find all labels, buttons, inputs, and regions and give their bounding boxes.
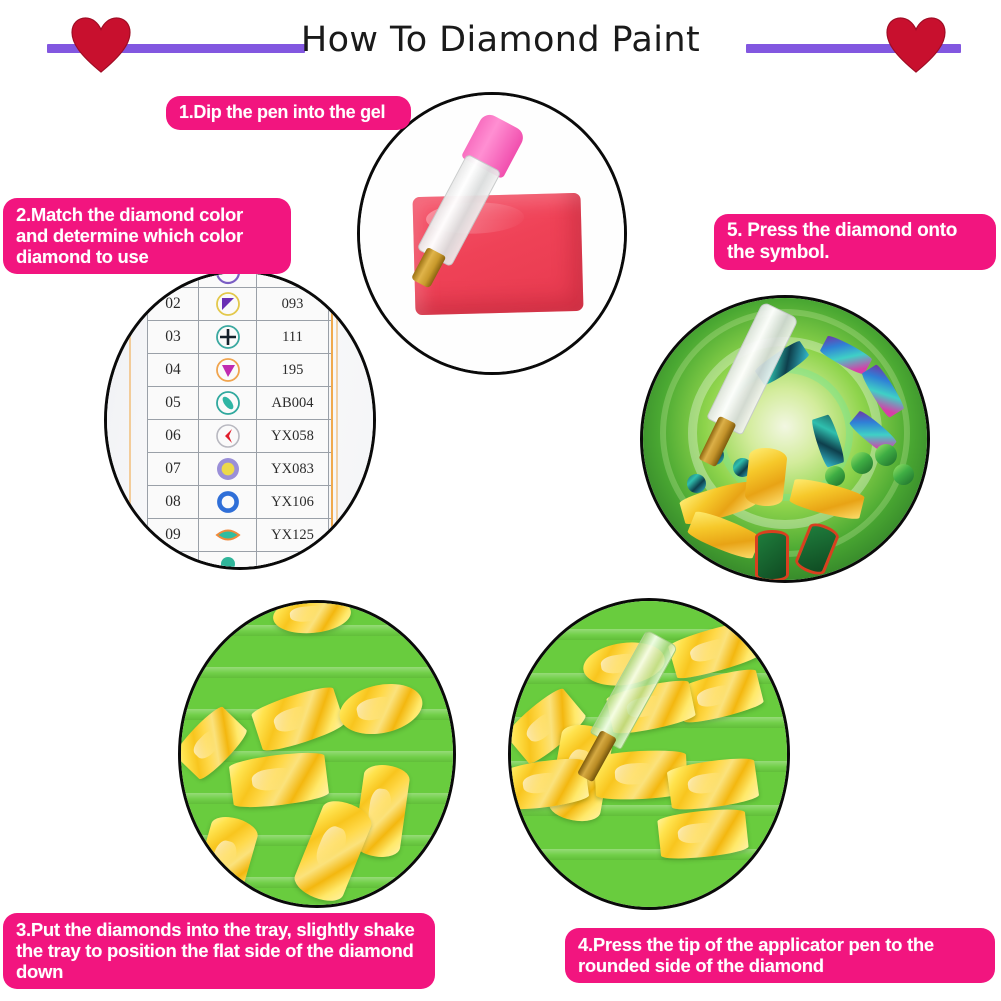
step-4-label: 4.Press the tip of the applicator pen to… — [565, 928, 995, 983]
row-index: 04 — [147, 354, 199, 386]
step-3-photo — [178, 600, 456, 908]
row-index: 09 — [147, 519, 199, 551]
table-row: 05 AB004 — [147, 387, 331, 420]
step-4-photo — [508, 598, 790, 910]
row-index: 06 — [147, 420, 199, 452]
table-row: 03 111 — [147, 321, 331, 354]
step-1-photo — [357, 92, 627, 375]
row-index: 03 — [147, 321, 199, 353]
row-index: 08 — [147, 486, 199, 518]
plus-cross-icon — [215, 324, 241, 350]
canvas-gem — [687, 474, 706, 493]
step-5-label: 5. Press the diamond onto the symbol. — [714, 214, 996, 270]
row-index: 02 — [147, 288, 199, 320]
row-symbol — [199, 453, 257, 485]
step-2-photo: 020 02 093 03 — [104, 270, 376, 570]
row-index — [147, 552, 199, 570]
table-row: 07 YX083 — [147, 453, 331, 486]
row-symbol — [199, 519, 257, 551]
page-title: How To Diamond Paint — [0, 20, 1001, 60]
dot-yellow-icon — [215, 456, 241, 482]
canvas-gem — [893, 464, 914, 485]
canvas-symbol — [755, 530, 789, 582]
row-symbol — [199, 486, 257, 518]
table-row: 06 YX058 — [147, 420, 331, 453]
row-code: YX106 — [257, 486, 329, 518]
step-2-label: 2.Match the diamond color and determine … — [3, 198, 291, 274]
target-gem — [744, 446, 788, 508]
triangle-magenta-icon — [215, 357, 241, 383]
table-row: 02 093 — [147, 288, 331, 321]
ring-blue-icon — [215, 489, 241, 515]
row-code: YX058 — [257, 420, 329, 452]
canvas-gem — [851, 452, 873, 474]
row-code: 111 — [257, 321, 329, 353]
row-symbol — [199, 354, 257, 386]
step-5-photo — [640, 295, 930, 583]
row-code: 195 — [257, 354, 329, 386]
tray-groove — [178, 667, 456, 678]
row-code: AB004 — [257, 387, 329, 419]
color-code-table: 020 02 093 03 — [147, 270, 331, 570]
row-index: 07 — [147, 453, 199, 485]
canvas-gem — [875, 444, 897, 466]
table-row — [147, 552, 331, 570]
chart-margin-stripe — [129, 270, 131, 570]
table-row: 08 YX106 — [147, 486, 331, 519]
chart-margin-stripe — [331, 270, 333, 570]
row-symbol — [199, 321, 257, 353]
chart-margin-stripe — [336, 270, 338, 570]
row-symbol — [199, 552, 257, 570]
table-row: 09 YX125 — [147, 519, 331, 552]
infographic-canvas: How To Diamond Paint — [0, 0, 1001, 1001]
step-3-label: 3.Put the diamonds into the tray, slight… — [3, 913, 435, 989]
tray-groove — [508, 849, 790, 860]
row-code — [257, 552, 329, 570]
row-code: 093 — [257, 288, 329, 320]
arrow-left-red-icon — [215, 423, 241, 449]
table-row: 04 195 — [147, 354, 331, 387]
row-symbol — [199, 420, 257, 452]
leaf-teal-icon — [215, 522, 241, 548]
dot-teal-icon — [215, 555, 241, 570]
row-index: 05 — [147, 387, 199, 419]
step-1-label: 1.Dip the pen into the gel — [166, 96, 411, 130]
row-symbol — [199, 288, 257, 320]
teardrop-teal-icon — [215, 390, 241, 416]
row-code: YX125 — [257, 519, 329, 551]
header: How To Diamond Paint — [0, 0, 1001, 82]
row-symbol — [199, 387, 257, 419]
triangle-purple-icon — [215, 291, 241, 317]
row-code: YX083 — [257, 453, 329, 485]
